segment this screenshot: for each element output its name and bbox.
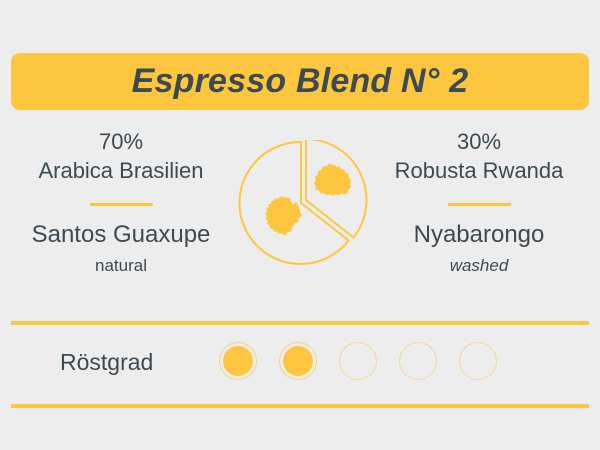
origin-divider-right [448, 203, 511, 206]
roast-section-bottom-rule [11, 404, 589, 408]
origin-variety-right: Robusta Rwanda [363, 156, 595, 186]
roast-dot-4[interactable] [399, 342, 437, 380]
origin-percent-right: 30% [363, 128, 595, 156]
origin-process-left: natural [5, 254, 237, 278]
roast-dot-core [463, 346, 493, 376]
brazil-map-icon [265, 196, 301, 235]
page-title: Espresso Blend N° 2 [132, 62, 469, 101]
roast-level-indicator[interactable] [219, 342, 497, 380]
roast-level-label: Röstgrad [60, 347, 153, 377]
origin-farm-right: Nyabarongo [363, 220, 595, 250]
roast-dot-core [403, 346, 433, 376]
origin-column-arabica: 70% Arabica Brasilien Santos Guaxupe nat… [5, 128, 237, 278]
product-title-bar: Espresso Blend N° 2 [11, 53, 589, 110]
origin-divider-left [90, 203, 153, 206]
roast-level-row: Röstgrad [0, 333, 600, 395]
roast-dot-core [223, 346, 253, 376]
coffee-label-card: Espresso Blend N° 2 70% Arabica Brasilie… [0, 0, 600, 450]
origin-variety-left: Arabica Brasilien [5, 156, 237, 186]
pie-chart-svg [238, 140, 368, 270]
origin-process-right: washed [363, 254, 595, 278]
roast-dot-core [343, 346, 373, 376]
roast-dot-3[interactable] [339, 342, 377, 380]
roast-dot-5[interactable] [459, 342, 497, 380]
pie-slice-arabica-70 [239, 142, 348, 264]
roast-dot-1[interactable] [219, 342, 257, 380]
roast-section-top-rule [11, 321, 589, 325]
roast-dot-2[interactable] [279, 342, 317, 380]
origin-column-robusta: 30% Robusta Rwanda Nyabarongo washed [363, 128, 595, 278]
origin-percent-left: 70% [5, 128, 237, 156]
origin-farm-left: Santos Guaxupe [5, 220, 237, 250]
rwanda-map-icon [314, 164, 352, 196]
roast-dot-core [283, 346, 313, 376]
blend-ratio-pie-chart [238, 140, 368, 270]
